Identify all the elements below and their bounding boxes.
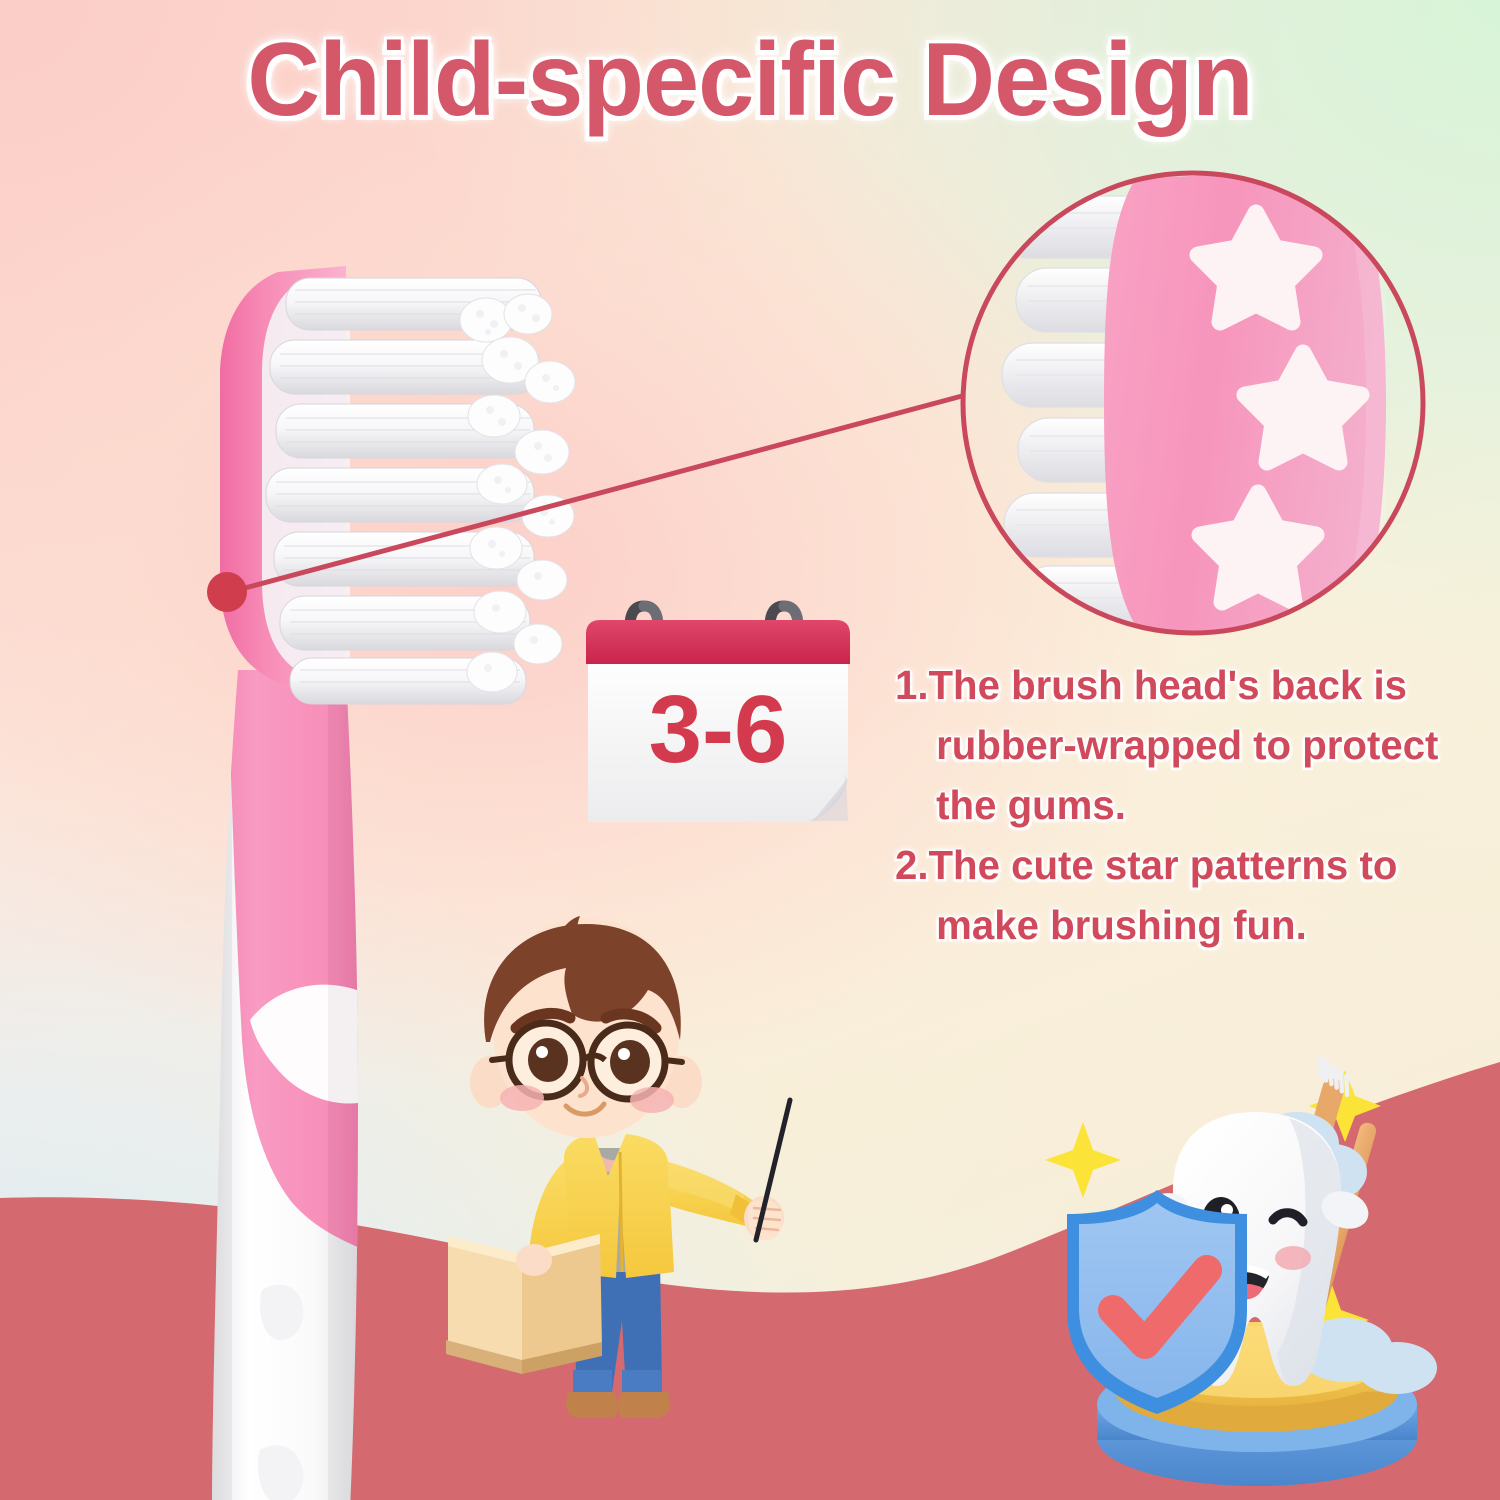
magnifier-detail-circle bbox=[958, 168, 1428, 638]
callout-leader bbox=[200, 370, 990, 620]
boy-head bbox=[470, 916, 702, 1138]
cartoon-boy-illustration bbox=[430, 900, 820, 1460]
note-line-3: the gums. bbox=[895, 775, 1468, 835]
calendar-header bbox=[586, 620, 850, 664]
note-line-5: make brushing fun. bbox=[895, 895, 1468, 955]
tooth-mascot-illustration bbox=[1045, 1060, 1465, 1490]
page-title: Child-specific Design bbox=[23, 26, 1478, 135]
age-range-calendar: 3-6 bbox=[578, 600, 858, 845]
infographic-canvas: Child-specific Design bbox=[0, 0, 1500, 1500]
calendar-age-range: 3-6 bbox=[649, 676, 788, 783]
note-line-1: 1.The brush head's back is bbox=[895, 655, 1468, 715]
note-line-2: rubber-wrapped to protect bbox=[895, 715, 1468, 775]
feature-notes-list: 1.The brush head's back is rubber-wrappe… bbox=[895, 655, 1480, 955]
brush-head-back-marker bbox=[207, 572, 247, 612]
note-line-4: 2.The cute star patterns to bbox=[895, 835, 1468, 895]
